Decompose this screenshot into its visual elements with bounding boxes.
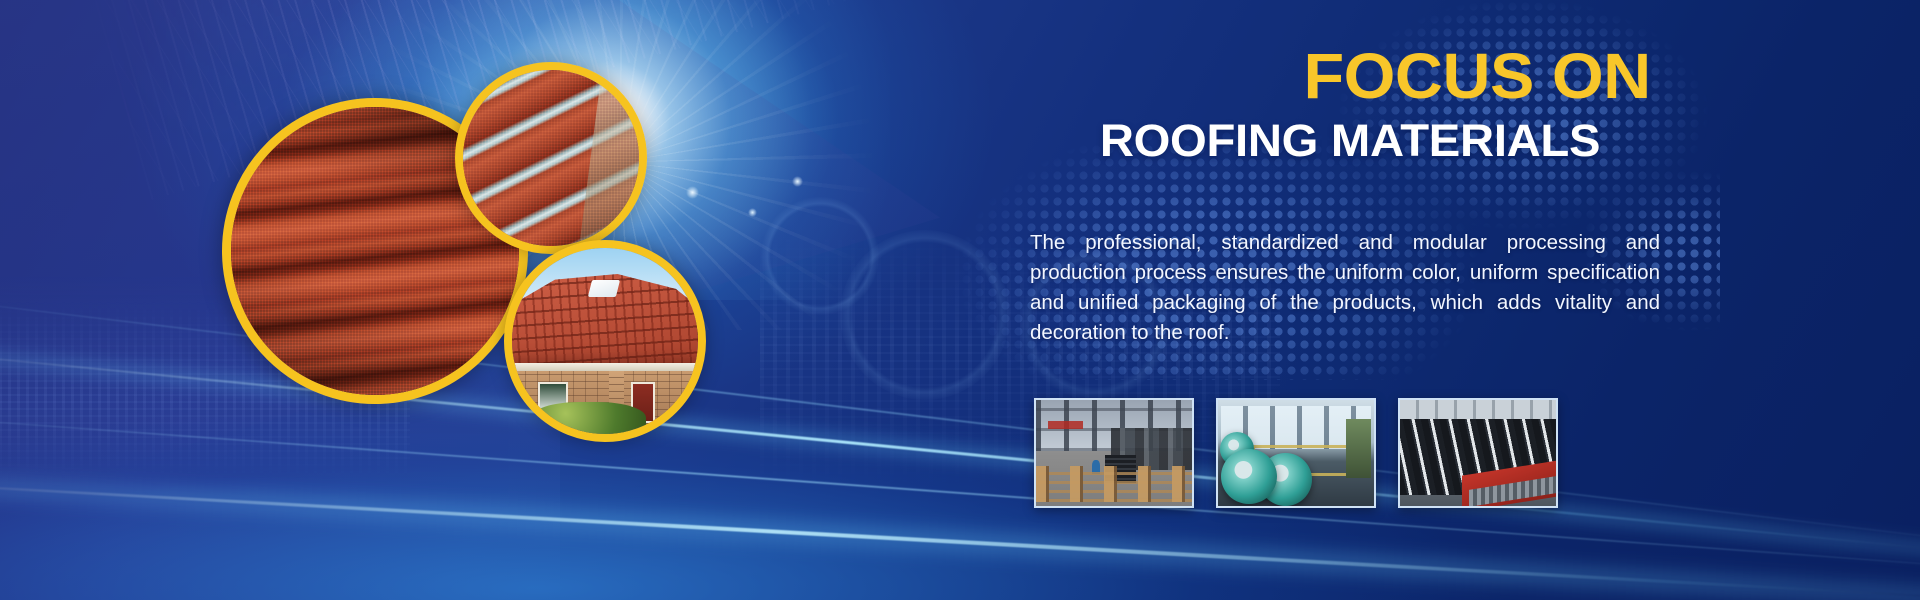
thumbnail-tile-panels-conveyor[interactable] (1398, 398, 1558, 508)
factory-wooden-pallets (1036, 466, 1192, 502)
hero-banner: FOCUS ON ROOFING MATERIALS The professio… (0, 0, 1920, 600)
steel-coils-image (1218, 400, 1374, 506)
headline-primary: FOCUS ON (1310, 44, 1644, 108)
thumbnail-gallery (1034, 398, 1558, 508)
factory-floor-image (1036, 400, 1192, 506)
factory-red-signage (1048, 421, 1082, 428)
house-hedge (531, 402, 646, 439)
house-skylight (588, 280, 620, 297)
roof-tiles-battens-image (463, 70, 639, 246)
thumbnail-steel-coils[interactable] (1216, 398, 1376, 508)
thumbnail-factory-floor[interactable] (1034, 398, 1194, 508)
product-circle-finished-house (504, 240, 706, 442)
banner-content-column: FOCUS ON ROOFING MATERIALS The professio… (1030, 0, 1720, 600)
headline-secondary-text: ROOFING MATERIALS (1100, 118, 1600, 163)
banner-description: The professional, standardized and modul… (1030, 228, 1660, 348)
finished-house-image (512, 248, 698, 434)
headline-primary-text: FOCUS ON (1304, 44, 1651, 108)
steel-coil-front (1221, 449, 1277, 504)
workshop-machine (1346, 419, 1371, 478)
headline-secondary: ROOFING MATERIALS (1112, 118, 1589, 163)
product-circle-tiles-on-battens (455, 62, 647, 254)
tile-panels-conveyor-image (1400, 400, 1556, 506)
